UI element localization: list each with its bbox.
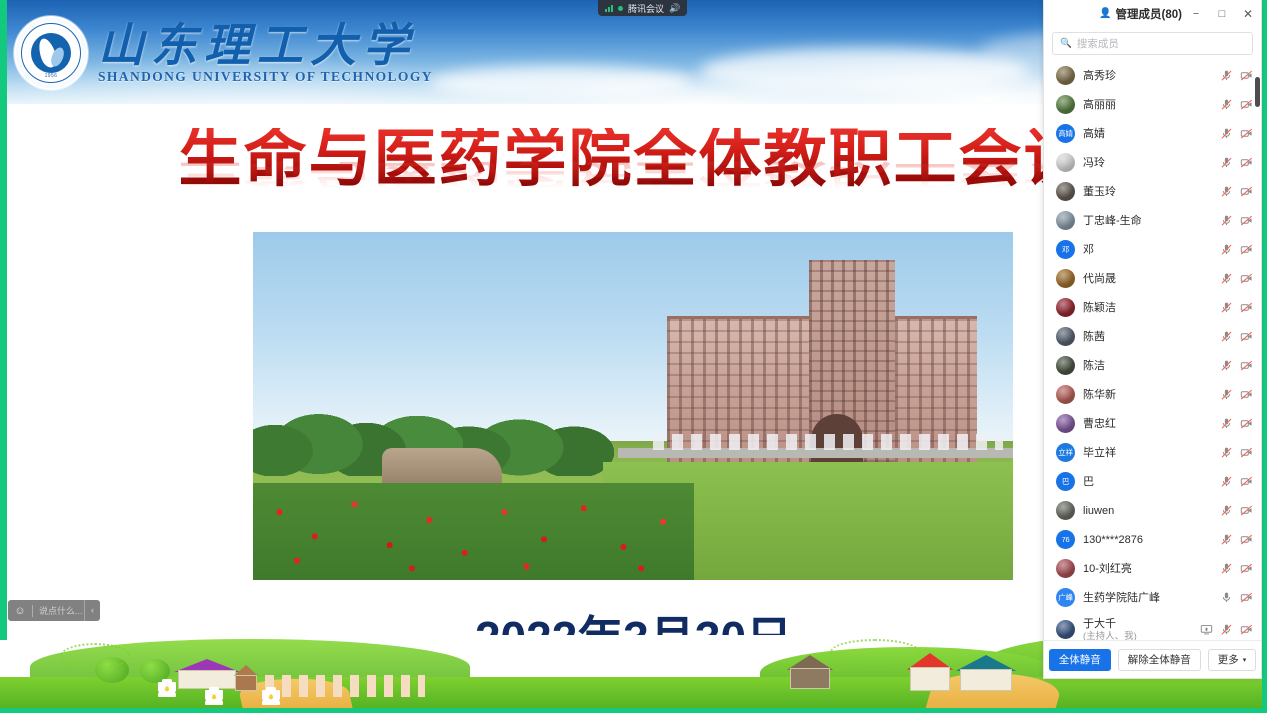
avatar bbox=[1056, 327, 1075, 346]
microphone-muted-icon[interactable] bbox=[1220, 446, 1233, 459]
camera-muted-icon[interactable] bbox=[1240, 214, 1253, 227]
member-row[interactable]: 于大千(主持人、我) bbox=[1044, 612, 1261, 640]
member-name-block: 陈洁 bbox=[1083, 359, 1212, 373]
member-name: 陈颖洁 bbox=[1083, 301, 1212, 315]
member-row[interactable]: 76130****2876 bbox=[1044, 525, 1261, 554]
microphone-muted-icon[interactable] bbox=[1220, 330, 1233, 343]
avatar: 邓 bbox=[1056, 240, 1075, 259]
member-row[interactable]: 陈颖洁 bbox=[1044, 293, 1261, 322]
member-name-block: 高秀珍 bbox=[1083, 69, 1212, 83]
university-name-cn: 山东理工大学 bbox=[98, 23, 433, 69]
speaker-icon[interactable]: 🔊 bbox=[669, 4, 680, 13]
mute-all-button[interactable]: 全体静音 bbox=[1049, 649, 1111, 671]
member-row-controls bbox=[1220, 330, 1253, 343]
green-dot-icon bbox=[618, 6, 623, 11]
avatar bbox=[1056, 559, 1075, 578]
camera-muted-icon[interactable] bbox=[1240, 359, 1253, 372]
camera-muted-icon[interactable] bbox=[1240, 446, 1253, 459]
member-name: 高丽丽 bbox=[1083, 98, 1212, 112]
member-row-controls bbox=[1220, 504, 1253, 517]
member-name: 邓 bbox=[1083, 243, 1212, 257]
camera-muted-icon[interactable] bbox=[1240, 272, 1253, 285]
avatar: 广峰 bbox=[1056, 588, 1075, 607]
avatar: 立祥 bbox=[1056, 443, 1075, 462]
member-name: 冯玲 bbox=[1083, 156, 1212, 170]
manage-members-panel: 👤 管理成员(80) − □ ✕ 🔍 搜索成员 高秀珍高丽丽高婧高婧冯玲董玉玲丁… bbox=[1043, 0, 1262, 679]
unmute-all-button[interactable]: 解除全体静音 bbox=[1118, 649, 1201, 671]
university-name-en: SHANDONG UNIVERSITY OF TECHNOLOGY bbox=[98, 70, 433, 84]
member-row[interactable]: 陈洁 bbox=[1044, 351, 1261, 380]
avatar: 高婧 bbox=[1056, 124, 1075, 143]
member-name-block: 丁忠峰-生命 bbox=[1083, 214, 1212, 228]
member-name-block: 巴 bbox=[1083, 475, 1212, 489]
maximize-button[interactable]: □ bbox=[1209, 1, 1235, 27]
member-name: 130****2876 bbox=[1083, 533, 1212, 547]
member-role-label: (主持人、我) bbox=[1083, 631, 1192, 641]
member-row-controls bbox=[1220, 446, 1253, 459]
search-placeholder: 搜索成员 bbox=[1077, 36, 1119, 51]
vine-illustration bbox=[830, 639, 920, 665]
close-button[interactable]: ✕ bbox=[1235, 1, 1261, 27]
camera-muted-icon[interactable] bbox=[1240, 301, 1253, 314]
member-row[interactable]: 陈茜 bbox=[1044, 322, 1261, 351]
avatar bbox=[1056, 501, 1075, 520]
member-name-block: 于大千(主持人、我) bbox=[1083, 617, 1192, 641]
avatar bbox=[1056, 269, 1075, 288]
microphone-muted-icon[interactable] bbox=[1220, 533, 1233, 546]
camera-muted-icon[interactable] bbox=[1240, 127, 1253, 140]
share-screen-icon[interactable] bbox=[1200, 623, 1213, 636]
microphone-muted-icon[interactable] bbox=[1220, 69, 1233, 82]
flower-illustration bbox=[205, 687, 223, 705]
microphone-muted-icon[interactable] bbox=[1220, 98, 1233, 111]
meeting-app-label: 腾讯会议 bbox=[628, 2, 664, 15]
microphone-muted-icon[interactable] bbox=[1220, 185, 1233, 198]
member-row-controls bbox=[1220, 156, 1253, 169]
campus-photo bbox=[253, 232, 1013, 580]
microphone-muted-icon[interactable] bbox=[1220, 504, 1233, 517]
microphone-muted-icon[interactable] bbox=[1220, 272, 1233, 285]
member-name: 陈茜 bbox=[1083, 330, 1212, 344]
microphone-muted-icon[interactable] bbox=[1220, 301, 1233, 314]
member-row[interactable]: 董玉玲 bbox=[1044, 177, 1261, 206]
microphone-muted-icon[interactable] bbox=[1220, 243, 1233, 256]
member-name-block: 高丽丽 bbox=[1083, 98, 1212, 112]
member-name: 代尚晟 bbox=[1083, 272, 1212, 286]
member-name-block: 陈颖洁 bbox=[1083, 301, 1212, 315]
member-name-block: 董玉玲 bbox=[1083, 185, 1212, 199]
vine-illustration bbox=[60, 643, 130, 669]
member-row[interactable]: 10-刘红亮 bbox=[1044, 554, 1261, 583]
microphone-muted-icon[interactable] bbox=[1220, 562, 1233, 575]
screen-share-border-right bbox=[1262, 0, 1267, 713]
member-name-block: 冯玲 bbox=[1083, 156, 1212, 170]
more-label: 更多 bbox=[1218, 652, 1239, 667]
avatar bbox=[1056, 298, 1075, 317]
member-panel-title: 管理成员(80) bbox=[1116, 6, 1182, 22]
member-name: 生药学院陆广峰 bbox=[1083, 591, 1212, 605]
member-row-controls bbox=[1220, 562, 1253, 575]
member-row[interactable]: liuwen bbox=[1044, 496, 1261, 525]
avatar bbox=[1056, 153, 1075, 172]
camera-muted-icon[interactable] bbox=[1240, 330, 1253, 343]
microphone-muted-icon[interactable] bbox=[1220, 475, 1233, 488]
member-row[interactable]: 丁忠峰-生命 bbox=[1044, 206, 1261, 235]
search-input[interactable]: 🔍 搜索成员 bbox=[1052, 32, 1253, 55]
member-row-controls bbox=[1200, 623, 1253, 636]
member-row[interactable]: 高丽丽 bbox=[1044, 90, 1261, 119]
camera-muted-icon[interactable] bbox=[1240, 623, 1253, 636]
avatar: 76 bbox=[1056, 530, 1075, 549]
member-name: 巴 bbox=[1083, 475, 1212, 489]
photo-red-flower-bed bbox=[253, 483, 694, 580]
house-illustration bbox=[235, 665, 257, 691]
member-name-block: 陈华新 bbox=[1083, 388, 1212, 402]
emoji-smiley-icon[interactable]: ☺ bbox=[8, 605, 32, 617]
member-row-controls bbox=[1220, 243, 1253, 256]
camera-muted-icon[interactable] bbox=[1240, 98, 1253, 111]
flower-illustration bbox=[158, 679, 176, 697]
microphone-muted-icon[interactable] bbox=[1220, 156, 1233, 169]
member-row[interactable]: 高婧高婧 bbox=[1044, 119, 1261, 148]
member-panel-footer: 全体静音 解除全体静音 更多 ▾ bbox=[1044, 640, 1261, 678]
more-button[interactable]: 更多 ▾ bbox=[1208, 649, 1257, 671]
member-row-controls bbox=[1220, 417, 1253, 430]
search-icon: 🔍 bbox=[1060, 38, 1072, 49]
avatar bbox=[1056, 385, 1075, 404]
member-row[interactable]: 立祥毕立祥 bbox=[1044, 438, 1261, 467]
member-row-controls bbox=[1220, 475, 1253, 488]
member-row[interactable]: 曹忠红 bbox=[1044, 409, 1261, 438]
member-list-scrollbar[interactable] bbox=[1255, 61, 1260, 640]
microphone-muted-icon[interactable] bbox=[1220, 623, 1233, 636]
university-seal-icon: 1956 bbox=[14, 16, 88, 90]
floating-chat-bar[interactable]: ☺ 说点什么... ‹ bbox=[8, 600, 100, 621]
member-name-block: 高婧 bbox=[1083, 127, 1212, 141]
chevron-down-icon: ▾ bbox=[1243, 656, 1247, 664]
member-row-controls bbox=[1220, 69, 1253, 82]
microphone-muted-icon[interactable] bbox=[1220, 388, 1233, 401]
member-name: liuwen bbox=[1083, 504, 1212, 518]
minimize-button[interactable]: − bbox=[1183, 1, 1209, 27]
university-logo: 1956 山东理工大学 SHANDONG UNIVERSITY OF TECHN… bbox=[14, 16, 433, 90]
member-row-controls bbox=[1220, 214, 1253, 227]
member-row-controls bbox=[1220, 533, 1253, 546]
fence-illustration bbox=[265, 675, 425, 697]
member-search-row: 🔍 搜索成员 bbox=[1044, 28, 1261, 61]
avatar bbox=[1056, 95, 1075, 114]
microphone-icon[interactable] bbox=[1220, 591, 1233, 604]
member-row-controls bbox=[1220, 185, 1253, 198]
member-name-block: 曹忠红 bbox=[1083, 417, 1212, 431]
member-row[interactable]: 邓邓 bbox=[1044, 235, 1261, 264]
avatar bbox=[1056, 620, 1075, 639]
member-name-block: 邓 bbox=[1083, 243, 1212, 257]
camera-muted-icon[interactable] bbox=[1240, 504, 1253, 517]
microphone-muted-icon[interactable] bbox=[1220, 127, 1233, 140]
avatar: 巴 bbox=[1056, 472, 1075, 491]
microphone-muted-icon[interactable] bbox=[1220, 359, 1233, 372]
member-name: 丁忠峰-生命 bbox=[1083, 214, 1212, 228]
house-illustration bbox=[790, 655, 830, 689]
house-illustration bbox=[960, 655, 1012, 691]
photo-parked-cars bbox=[653, 434, 1003, 450]
camera-muted-icon[interactable] bbox=[1240, 417, 1253, 430]
member-list[interactable]: 高秀珍高丽丽高婧高婧冯玲董玉玲丁忠峰-生命邓邓代尚晟陈颖洁陈茜陈洁陈华新曹忠红立… bbox=[1044, 61, 1261, 640]
avatar bbox=[1056, 66, 1075, 85]
member-name-block: 陈茜 bbox=[1083, 330, 1212, 344]
microphone-muted-icon[interactable] bbox=[1220, 214, 1233, 227]
member-row-controls bbox=[1220, 127, 1253, 140]
house-illustration bbox=[910, 653, 950, 691]
camera-muted-icon[interactable] bbox=[1240, 475, 1253, 488]
camera-muted-icon[interactable] bbox=[1240, 562, 1253, 575]
avatar bbox=[1056, 414, 1075, 433]
camera-muted-icon[interactable] bbox=[1240, 185, 1253, 198]
member-name: 10-刘红亮 bbox=[1083, 562, 1212, 576]
member-name: 陈华新 bbox=[1083, 388, 1212, 402]
member-row[interactable]: 巴巴 bbox=[1044, 467, 1261, 496]
camera-muted-icon[interactable] bbox=[1240, 388, 1253, 401]
member-name: 毕立祥 bbox=[1083, 446, 1212, 460]
member-name-block: liuwen bbox=[1083, 504, 1212, 518]
member-row-controls bbox=[1220, 359, 1253, 372]
member-row-controls bbox=[1220, 98, 1253, 111]
meeting-status-pill[interactable]: 腾讯会议 🔊 bbox=[598, 0, 687, 16]
house-illustration bbox=[178, 659, 236, 689]
camera-muted-icon[interactable] bbox=[1240, 591, 1253, 604]
signal-bars-icon bbox=[605, 4, 613, 12]
member-row[interactable]: 广峰生药学院陆广峰 bbox=[1044, 583, 1261, 612]
member-row-controls bbox=[1220, 301, 1253, 314]
camera-muted-icon[interactable] bbox=[1240, 533, 1253, 546]
avatar bbox=[1056, 182, 1075, 201]
cloud-decoration bbox=[700, 48, 1030, 94]
member-row[interactable]: 陈华新 bbox=[1044, 380, 1261, 409]
member-name: 高秀珍 bbox=[1083, 69, 1212, 83]
member-name: 陈洁 bbox=[1083, 359, 1212, 373]
member-row-controls bbox=[1220, 272, 1253, 285]
avatar bbox=[1056, 356, 1075, 375]
microphone-muted-icon[interactable] bbox=[1220, 417, 1233, 430]
flower-illustration bbox=[262, 687, 280, 705]
member-name-block: 130****2876 bbox=[1083, 533, 1212, 547]
camera-muted-icon[interactable] bbox=[1240, 243, 1253, 256]
screen-share-border-bottom bbox=[0, 708, 1267, 713]
member-name-block: 代尚晟 bbox=[1083, 272, 1212, 286]
member-row[interactable]: 代尚晟 bbox=[1044, 264, 1261, 293]
scrollbar-thumb[interactable] bbox=[1255, 77, 1260, 107]
member-row[interactable]: 冯玲 bbox=[1044, 148, 1261, 177]
member-name-block: 10-刘红亮 bbox=[1083, 562, 1212, 576]
member-name-block: 生药学院陆广峰 bbox=[1083, 591, 1212, 605]
member-name: 高婧 bbox=[1083, 127, 1212, 141]
seal-core-glyph bbox=[31, 33, 71, 73]
chevron-left-icon[interactable]: ‹ bbox=[84, 600, 100, 621]
cloud-decoration bbox=[430, 66, 690, 100]
member-row[interactable]: 高秀珍 bbox=[1044, 61, 1261, 90]
camera-muted-icon[interactable] bbox=[1240, 156, 1253, 169]
screen-share-border-left bbox=[0, 0, 7, 640]
person-icon: 👤 bbox=[1099, 9, 1111, 19]
camera-muted-icon[interactable] bbox=[1240, 69, 1253, 82]
member-row-controls bbox=[1220, 591, 1253, 604]
member-row-controls bbox=[1220, 388, 1253, 401]
avatar bbox=[1056, 211, 1075, 230]
chat-input-placeholder[interactable]: 说点什么... bbox=[33, 604, 84, 617]
member-name: 于大千 bbox=[1083, 617, 1192, 631]
member-panel-titlebar[interactable]: 👤 管理成员(80) − □ ✕ bbox=[1044, 0, 1261, 28]
seal-year: 1956 bbox=[16, 73, 86, 79]
member-name: 曹忠红 bbox=[1083, 417, 1212, 431]
member-name: 董玉玲 bbox=[1083, 185, 1212, 199]
member-name-block: 毕立祥 bbox=[1083, 446, 1212, 460]
